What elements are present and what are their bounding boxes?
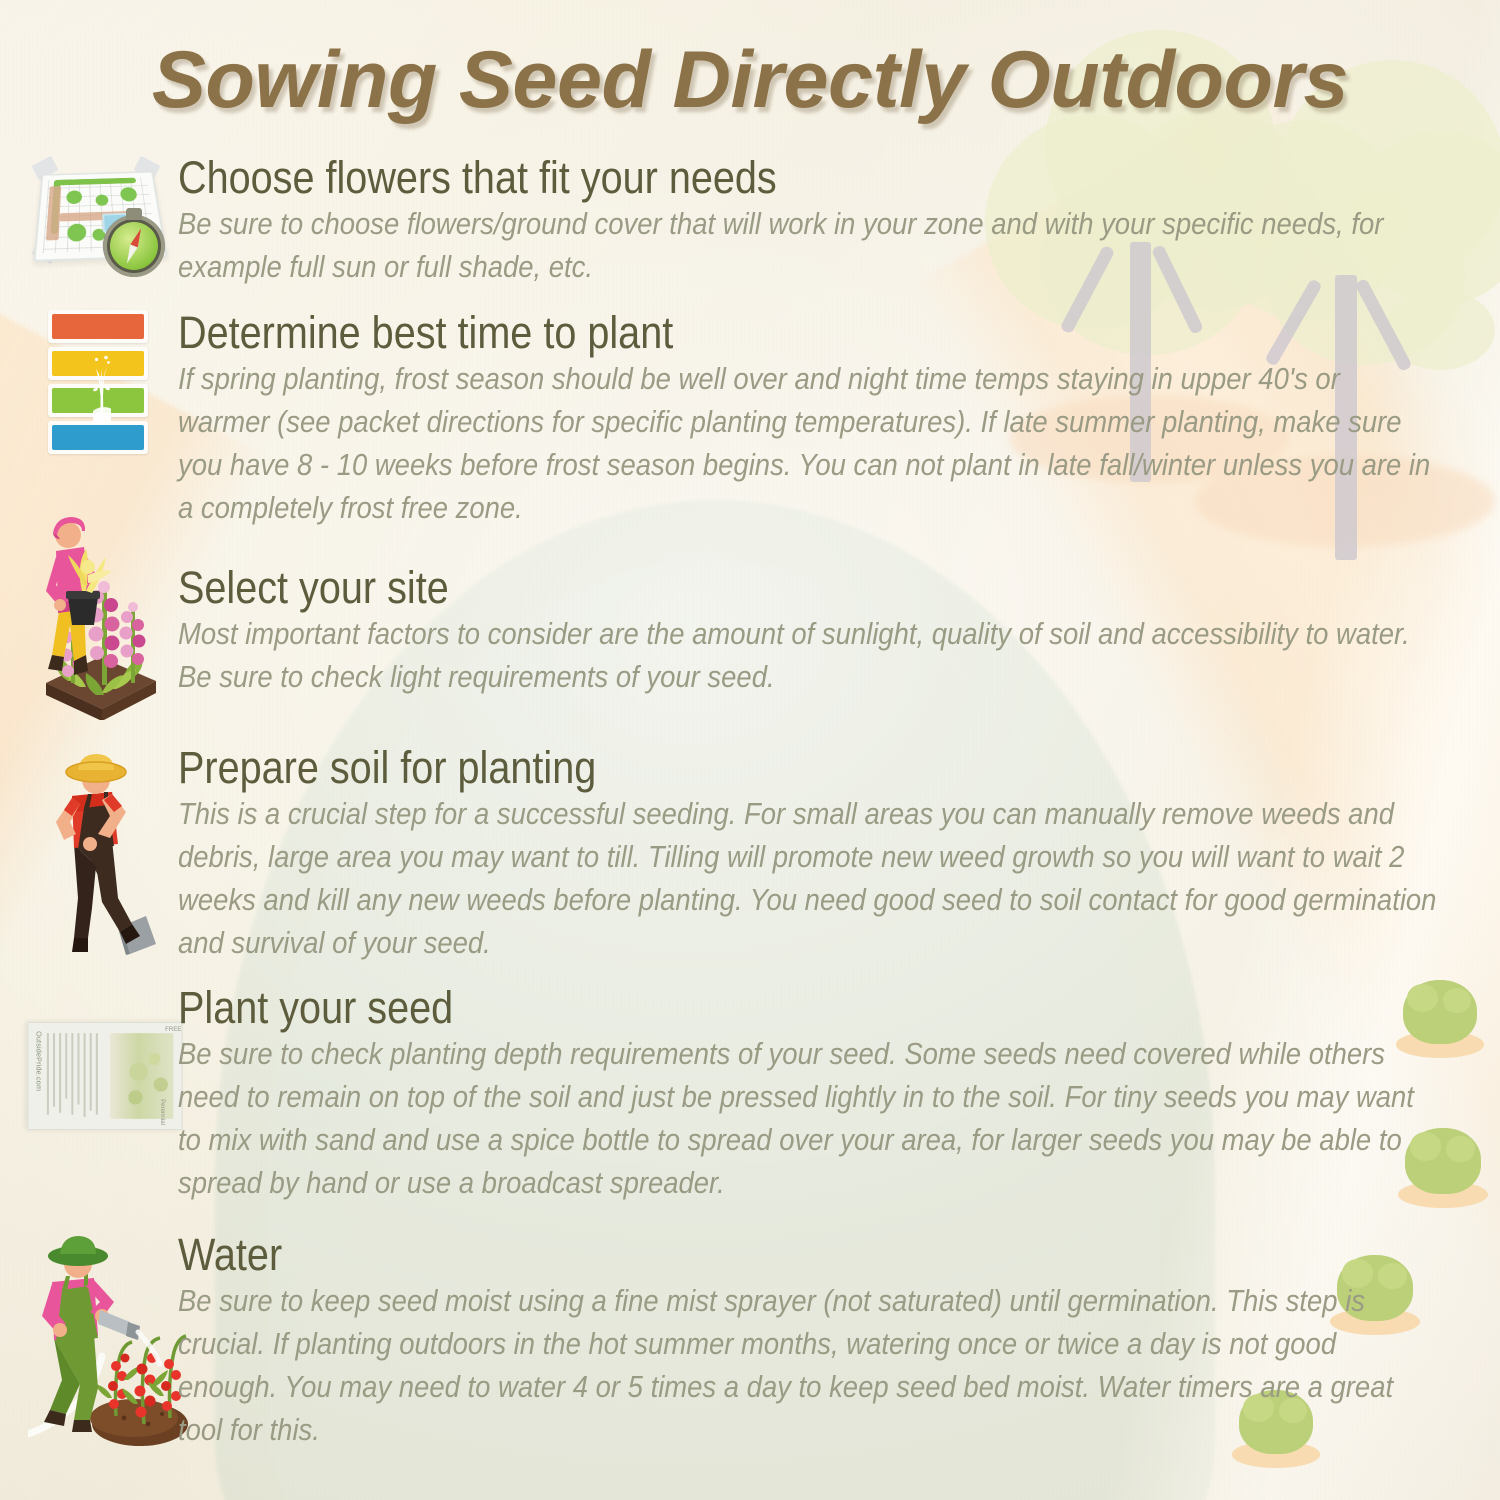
section-plant-seed: Plant your seed Be sure to check plantin…: [178, 985, 1438, 1205]
section-body: This is a crucial step for a successful …: [178, 793, 1437, 965]
infographic-poster: Sowing Seed Directly Outdoors: [0, 0, 1500, 1500]
section-body: If spring planting, frost season should …: [178, 358, 1437, 530]
gardener-digging-icon: [34, 748, 174, 963]
woman-planting-icon: [28, 505, 168, 720]
section-select-site: Select your site Most important factors …: [178, 565, 1438, 699]
section-prepare-soil: Prepare soil for planting This is a cruc…: [178, 745, 1438, 965]
garden-plan-compass-icon: [32, 152, 167, 277]
packet-brand-label: OutsidePride.com: [35, 1031, 42, 1091]
season-bar-summer: [48, 384, 148, 417]
season-bar-spring: [48, 347, 148, 380]
compass-icon: [103, 215, 165, 277]
section-determine-time: Determine best time to plant If spring p…: [178, 310, 1438, 530]
section-heading: Determine best time to plant: [178, 310, 1287, 356]
page-title: Sowing Seed Directly Outdoors: [0, 34, 1500, 127]
section-choose-flowers: Choose flowers that fit your needs Be su…: [178, 155, 1438, 289]
section-body: Be sure to choose flowers/ground cover t…: [178, 203, 1437, 289]
section-water: Water Be sure to keep seed moist using a…: [178, 1232, 1438, 1452]
section-heading: Plant your seed: [178, 985, 1287, 1031]
four-seasons-icon: [48, 310, 158, 460]
gardener-watering-icon: [28, 1228, 188, 1458]
section-heading: Prepare soil for planting: [178, 745, 1287, 791]
section-body: Most important factors to consider are t…: [178, 613, 1437, 699]
season-bar-autumn: [48, 310, 148, 343]
section-heading: Choose flowers that fit your needs: [178, 155, 1287, 201]
seed-packet-icon: FREE SHIPPING Perennial OutsidePride.com: [48, 992, 168, 1167]
section-heading: Water: [178, 1232, 1287, 1278]
section-heading: Select your site: [178, 565, 1287, 611]
season-bar-winter: [48, 421, 148, 454]
section-body: Be sure to keep seed moist using a fine …: [178, 1280, 1437, 1452]
section-body: Be sure to check planting depth requirem…: [178, 1033, 1437, 1205]
